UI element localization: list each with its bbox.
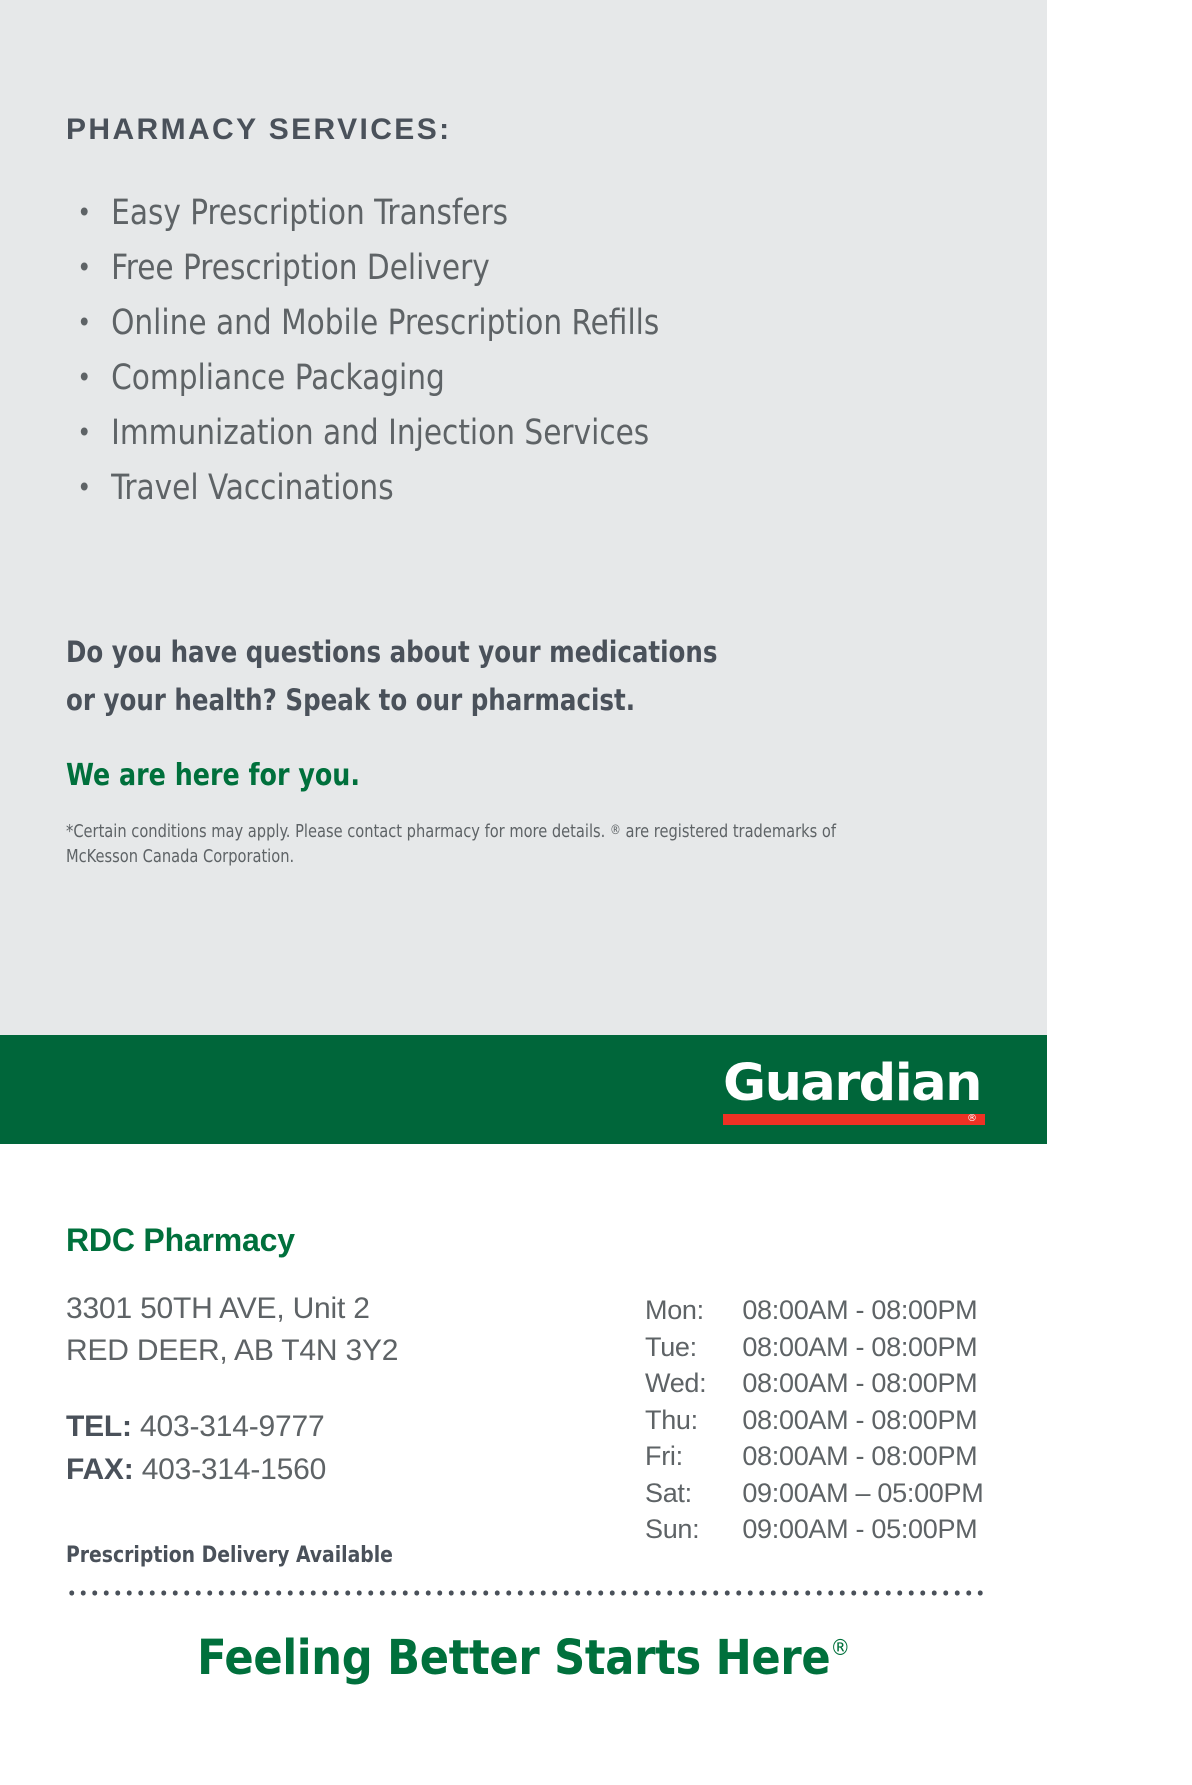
- telephone-row: TEL: 403-314-9777: [66, 1405, 326, 1448]
- hours-time: 09:00AM - 05:00PM: [742, 1511, 983, 1548]
- disclaimer-text: *Certain conditions may apply. Please co…: [66, 818, 908, 870]
- fax-value[interactable]: 403-314-1560: [142, 1453, 326, 1486]
- table-row: Thu: 08:00AM - 08:00PM: [645, 1402, 983, 1439]
- delivery-available-note: Prescription Delivery Available: [66, 1543, 393, 1568]
- list-item: Free Prescription Delivery: [66, 241, 659, 296]
- table-row: Tue: 08:00AM - 08:00PM: [645, 1329, 983, 1366]
- hours-day: Mon:: [645, 1292, 742, 1329]
- guardian-wordmark: Guardian: [723, 1057, 993, 1111]
- table-row: Sat: 09:00AM – 05:00PM: [645, 1475, 983, 1512]
- hours-time: 08:00AM - 08:00PM: [742, 1329, 983, 1366]
- store-address: 3301 50TH AVE, Unit 2 RED DEER, AB T4N 3…: [66, 1288, 398, 1372]
- tagline-text: Feeling Better Starts Here: [197, 1630, 830, 1686]
- brand-bar: Guardian ®: [0, 1035, 1047, 1144]
- hours-time: 08:00AM - 08:00PM: [742, 1365, 983, 1402]
- guardian-red-rule: ®: [723, 1114, 985, 1125]
- list-item: Online and Mobile Prescription Refills: [66, 296, 659, 351]
- hours-day: Thu:: [645, 1402, 742, 1439]
- registered-trademark-icon: ®: [610, 823, 621, 838]
- pharmacy-flyer-page: PHARMACY SERVICES: Easy Prescription Tra…: [0, 0, 1192, 1785]
- list-item: Immunization and Injection Services: [66, 406, 659, 461]
- hours-time: 08:00AM - 08:00PM: [742, 1438, 983, 1475]
- services-panel: PHARMACY SERVICES: Easy Prescription Tra…: [0, 0, 1047, 1035]
- table-row: Sun: 09:00AM - 05:00PM: [645, 1511, 983, 1548]
- registered-trademark-icon: ®: [967, 1113, 977, 1125]
- hours-day: Sat:: [645, 1475, 742, 1512]
- hours-day: Tue:: [645, 1329, 742, 1366]
- page-title: PHARMACY SERVICES:: [66, 113, 452, 147]
- list-item: Travel Vaccinations: [66, 461, 659, 516]
- fax-row: FAX: 403-314-1560: [66, 1448, 326, 1491]
- table-row: Fri: 08:00AM - 08:00PM: [645, 1438, 983, 1475]
- telephone-value[interactable]: 403-314-9777: [140, 1410, 324, 1443]
- dotted-divider: [66, 1590, 986, 1596]
- list-item: Easy Prescription Transfers: [66, 186, 659, 241]
- address-line-1: 3301 50TH AVE, Unit 2: [66, 1288, 398, 1330]
- list-item: Compliance Packaging: [66, 351, 659, 406]
- hours-time: 08:00AM - 08:00PM: [742, 1402, 983, 1439]
- disclaimer-part-1: *Certain conditions may apply. Please co…: [66, 822, 610, 842]
- table-row: Wed: 08:00AM - 08:00PM: [645, 1365, 983, 1402]
- hours-time: 09:00AM – 05:00PM: [742, 1475, 983, 1512]
- telephone-label: TEL:: [66, 1410, 132, 1443]
- question-block: Do you have questions about your medicat…: [66, 628, 717, 724]
- hours-day: Fri:: [645, 1438, 742, 1475]
- guardian-logo: Guardian ®: [723, 1057, 985, 1125]
- table-row: Mon: 08:00AM - 08:00PM: [645, 1292, 983, 1329]
- brand-tagline: Feeling Better Starts Here®: [0, 1630, 1047, 1686]
- registered-trademark-icon: ®: [830, 1636, 850, 1661]
- store-contact: TEL: 403-314-9777 FAX: 403-314-1560: [66, 1405, 326, 1491]
- question-line-1: Do you have questions about your medicat…: [66, 628, 717, 676]
- hours-time: 08:00AM - 08:00PM: [742, 1292, 983, 1329]
- address-line-2: RED DEER, AB T4N 3Y2: [66, 1330, 398, 1372]
- hours-day: Wed:: [645, 1365, 742, 1402]
- question-line-2: or your health? Speak to our pharmacist.: [66, 676, 717, 724]
- fax-label: FAX:: [66, 1453, 134, 1486]
- hours-day: Sun:: [645, 1511, 742, 1548]
- store-hours-table: Mon: 08:00AM - 08:00PM Tue: 08:00AM - 08…: [645, 1292, 983, 1548]
- here-for-you-headline: We are here for you.: [66, 758, 360, 793]
- store-name: RDC Pharmacy: [66, 1222, 295, 1259]
- services-list: Easy Prescription Transfers Free Prescri…: [66, 186, 697, 516]
